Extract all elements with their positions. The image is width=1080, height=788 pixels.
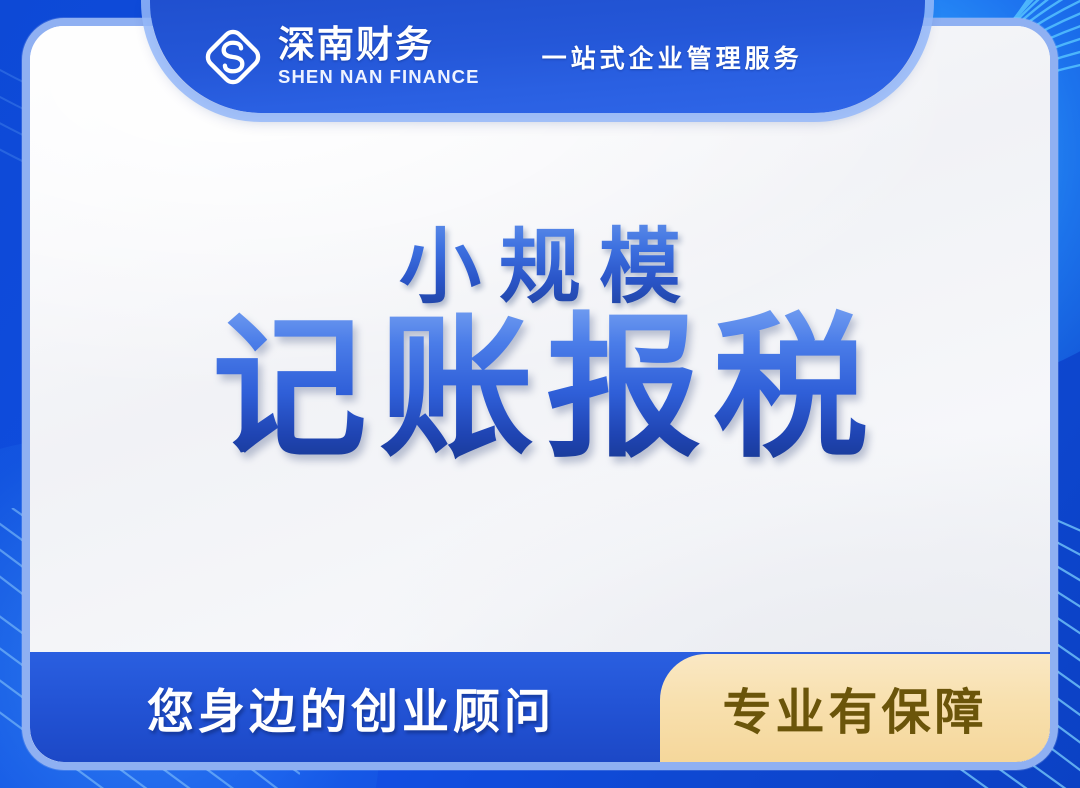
diamond-s-logo-icon — [202, 26, 264, 88]
poster-canvas: 小规模 记账报税 您身边的创业顾问 专业有保障 深南财务 SHEN NAN FI… — [0, 0, 1080, 788]
brand-text: 深南财务 SHEN NAN FINANCE — [278, 26, 480, 87]
footer-badge[interactable]: 专业有保障 — [660, 654, 1050, 762]
header-banner: 深南财务 SHEN NAN FINANCE 一站式企业管理服务 — [150, 0, 925, 113]
footer-bar: 您身边的创业顾问 专业有保障 — [30, 652, 1050, 762]
headline-block: 小规模 记账报税 — [30, 222, 1050, 471]
brand-logo[interactable]: 深南财务 SHEN NAN FINANCE — [202, 26, 480, 88]
brand-tagline: 一站式企业管理服务 — [542, 39, 803, 75]
footer-slogan: 您身边的创业顾问 — [30, 673, 660, 742]
poster-card: 小规模 记账报税 您身边的创业顾问 专业有保障 — [22, 18, 1058, 770]
brand-name-en: SHEN NAN FINANCE — [278, 68, 480, 87]
brand-name-cn: 深南财务 — [278, 26, 480, 63]
headline-title: 记账报税 — [30, 308, 1050, 471]
